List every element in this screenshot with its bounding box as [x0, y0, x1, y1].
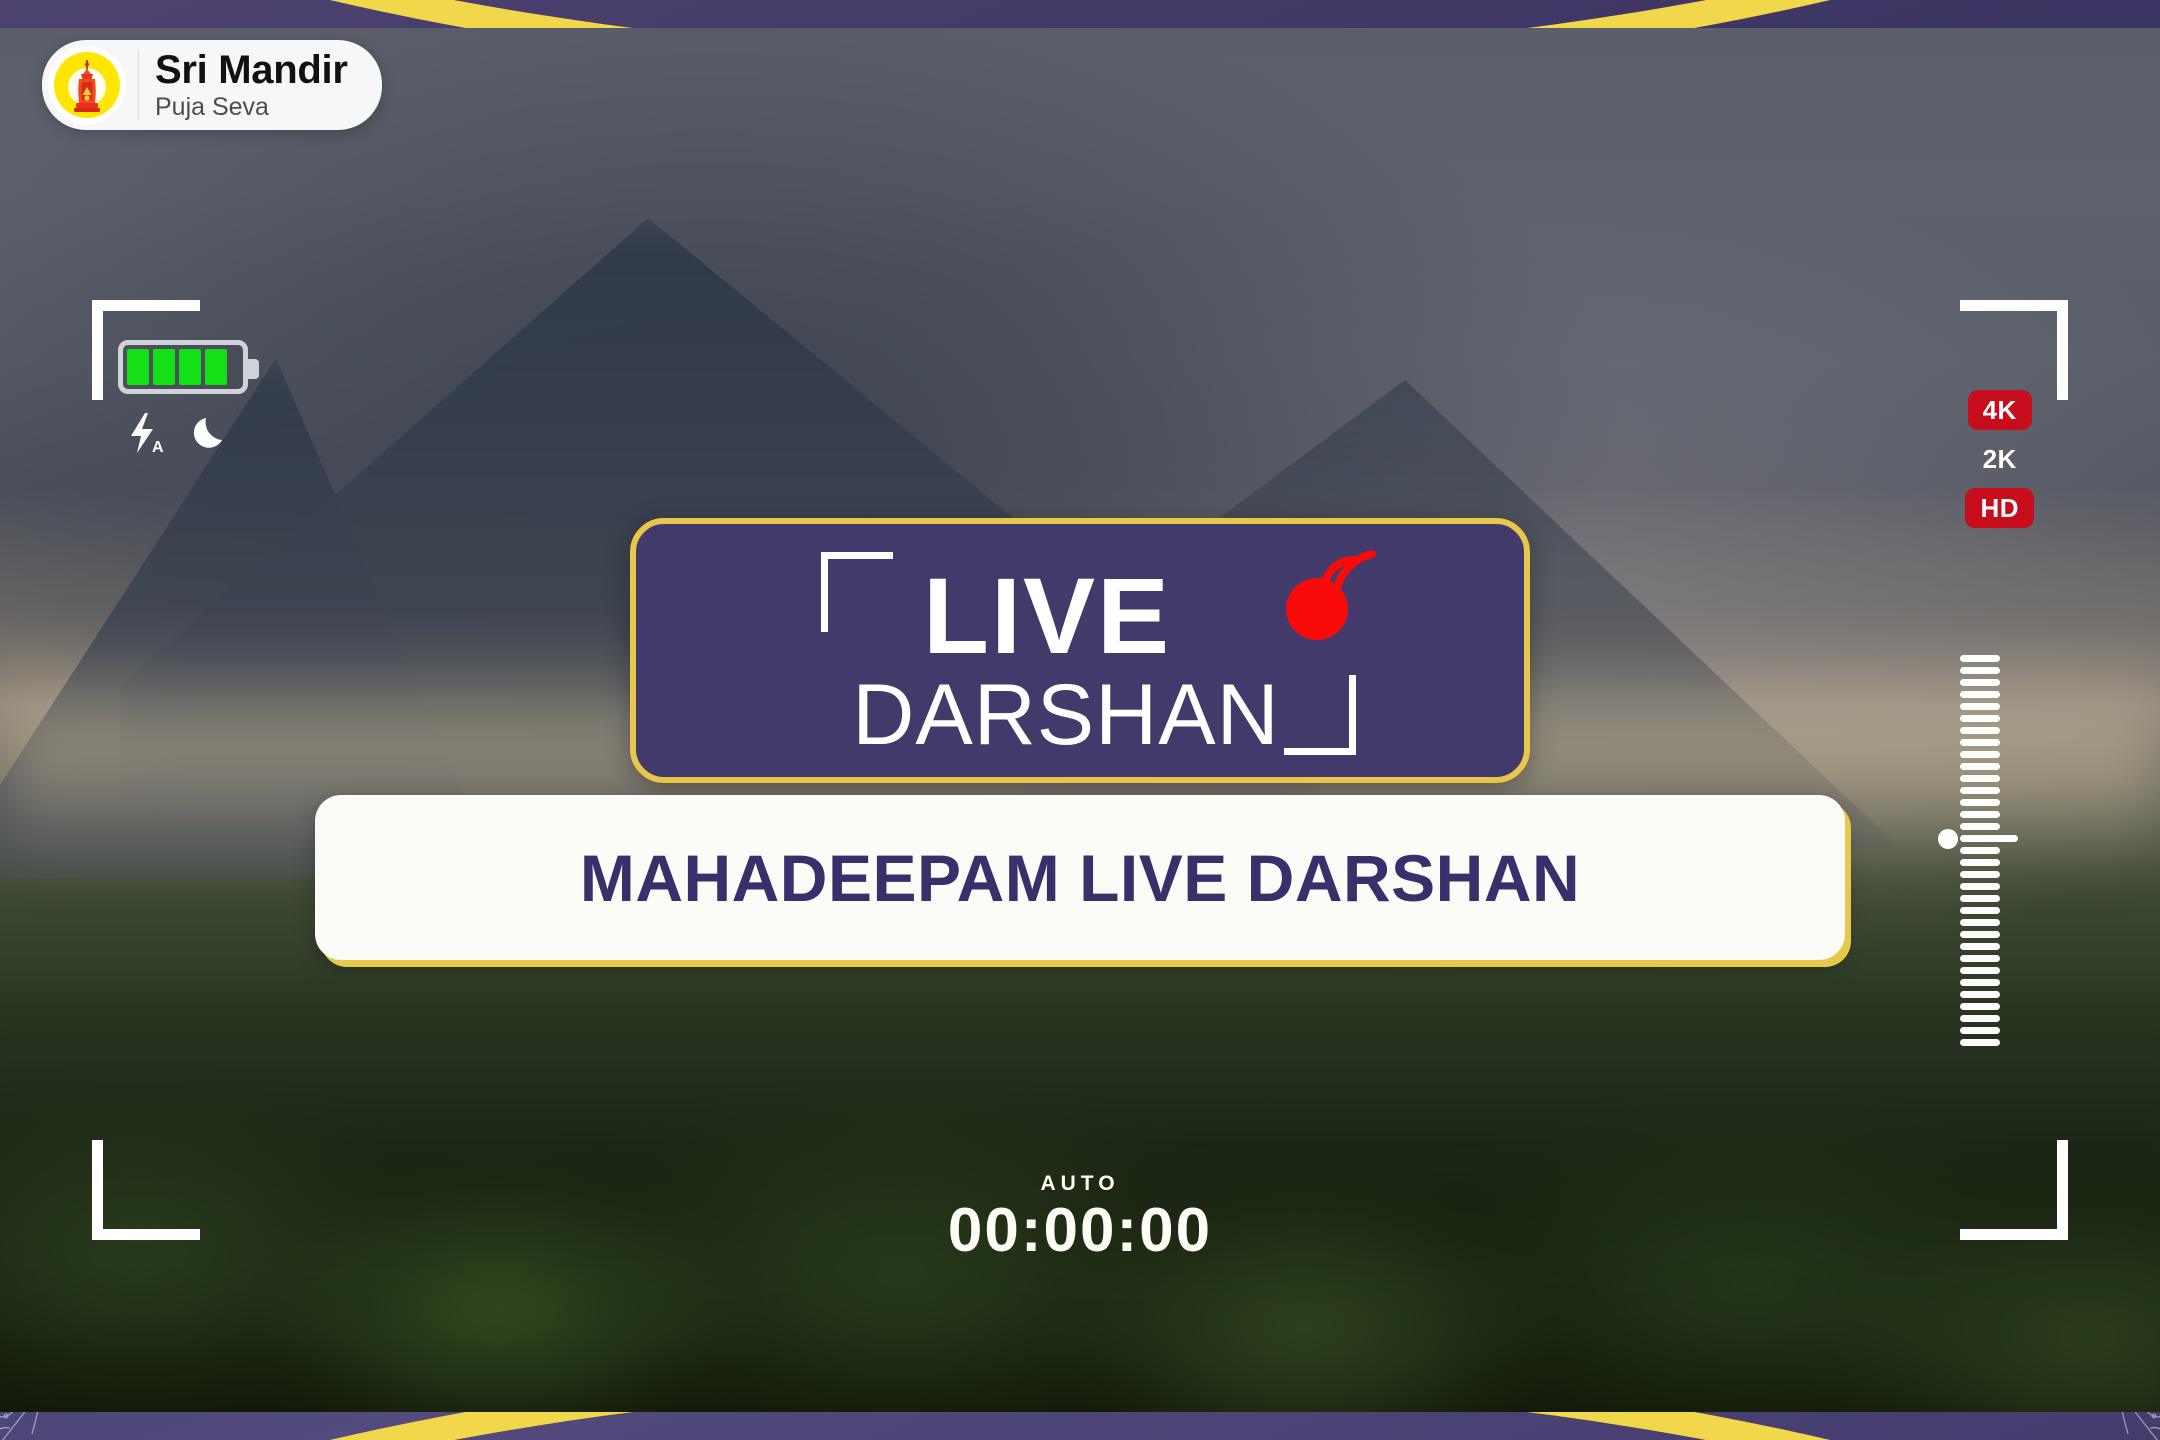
recording-timer: AUTO 00:00:00	[948, 1173, 1212, 1262]
slider-tick	[1960, 823, 2000, 830]
slider-tick	[1960, 991, 2000, 998]
slider-tick	[1960, 871, 2000, 878]
slider-tick	[1960, 787, 2000, 794]
slider-tick	[1960, 739, 2000, 746]
viewfinder-corner-icon-top-right	[1960, 300, 2068, 400]
slider-tick	[1960, 679, 2000, 686]
darshan-title-bar: MAHADEEPAM LIVE DARSHAN	[315, 795, 1845, 960]
slider-tick	[1960, 1015, 2000, 1022]
slider-tick	[1960, 847, 2000, 854]
slider-tick	[1960, 703, 2000, 710]
viewfinder-corner-icon-bottom-right	[1960, 1140, 2068, 1240]
slider-tick	[1960, 775, 2000, 782]
slider-tick	[1960, 835, 2018, 842]
slider-tick	[1960, 931, 2000, 938]
broadcast-waves-icon	[1284, 546, 1376, 628]
flash-auto-icon[interactable]: A	[122, 410, 168, 461]
slider-tick	[1960, 691, 2000, 698]
slider-tick	[1960, 1003, 2000, 1010]
viewfinder-corner-icon-bottom-left	[92, 1140, 200, 1240]
slider-knob[interactable]	[1938, 829, 1958, 849]
slider-tick	[1960, 667, 2000, 674]
exposure-slider[interactable]	[1960, 655, 2020, 1051]
moon-icon[interactable]	[190, 412, 232, 459]
slider-tick	[1960, 715, 2000, 722]
live-darshan-panel: LIVE DARSHAN	[630, 518, 1530, 783]
battery-icon	[118, 340, 248, 394]
slider-tick	[1960, 883, 2000, 890]
slider-tick	[1960, 763, 2000, 770]
brand-subtitle: Puja Seva	[155, 92, 348, 122]
slider-tick	[1960, 859, 2000, 866]
darshan-label: DARSHAN	[636, 672, 1524, 758]
svg-text:A: A	[152, 439, 164, 456]
slider-tick	[1960, 1039, 2000, 1046]
slider-tick	[1960, 811, 2000, 818]
resolution-selector[interactable]: 4K 2K HD	[1965, 390, 2034, 528]
timer-value: 00:00:00	[948, 1200, 1212, 1262]
slider-tick	[1960, 799, 2000, 806]
page-title: MAHADEEPAM LIVE DARSHAN	[580, 840, 1580, 916]
camera-status-group: A	[118, 340, 248, 461]
slider-tick	[1960, 919, 2000, 926]
slider-tick	[1960, 727, 2000, 734]
brand-divider	[138, 50, 139, 120]
battery-cell	[179, 349, 201, 385]
slider-tick	[1960, 751, 2000, 758]
slider-tick	[1960, 907, 2000, 914]
resolution-option-4k[interactable]: 4K	[1968, 390, 2032, 430]
slider-tick	[1960, 1027, 2000, 1034]
resolution-option-2k[interactable]: 2K	[1968, 439, 2032, 479]
temple-tower-icon	[48, 46, 126, 124]
slider-tick	[1960, 967, 2000, 974]
timer-mode-label: AUTO	[948, 1173, 1212, 1194]
slider-tick	[1960, 955, 2000, 962]
live-label: LIVE	[636, 562, 1524, 670]
resolution-option-hd[interactable]: HD	[1965, 488, 2034, 528]
brand-badge[interactable]: Sri Mandir Puja Seva	[42, 40, 382, 130]
battery-cell	[205, 349, 227, 385]
battery-cell	[127, 349, 149, 385]
brand-title: Sri Mandir	[155, 49, 348, 91]
slider-tick	[1960, 895, 2000, 902]
slider-tick	[1960, 979, 2000, 986]
slider-tick	[1960, 655, 2000, 662]
battery-cell	[153, 349, 175, 385]
slider-tick	[1960, 943, 2000, 950]
